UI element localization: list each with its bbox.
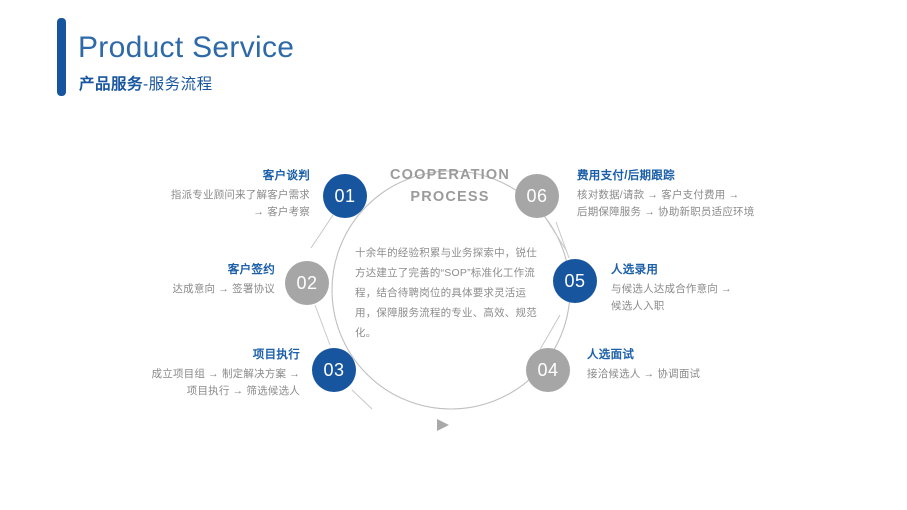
leader-line-03 xyxy=(352,390,372,409)
step-node-02[interactable]: 02 xyxy=(285,261,329,305)
step-desc-02-line1: 达成意向 → 签署协议 xyxy=(100,281,275,298)
step-desc-03-line1: 成立项目组 → 制定解决方案 → xyxy=(100,366,300,383)
step-title-03: 项目执行 xyxy=(100,346,300,362)
step-desc-05-line2: 候选人入职 xyxy=(611,298,811,315)
step-node-04[interactable]: 04 xyxy=(526,348,570,392)
step-label-06: 费用支付/后期跟踪 核对数据/请款 → 客户支付费用 → 后期保障服务 → 协助… xyxy=(577,167,817,221)
step-node-05[interactable]: 05 xyxy=(553,259,597,303)
step-label-04: 人选面试 接洽候选人 → 协调面试 xyxy=(587,346,787,383)
step-label-05: 人选录用 与候选人达成合作意向 → 候选人入职 xyxy=(611,261,811,315)
leader-line-01 xyxy=(311,215,333,248)
center-paragraph: 十余年的经验积累与业务探索中，锐仕方达建立了完善的“SOP”标准化工作流程，结合… xyxy=(355,243,541,343)
step-title-06: 费用支付/后期跟踪 xyxy=(577,167,817,183)
step-desc-06-line2: 后期保障服务 → 协助新职员适应环境 xyxy=(577,204,817,221)
step-desc-05-line1: 与候选人达成合作意向 → xyxy=(611,281,811,298)
step-title-02: 客户签约 xyxy=(100,261,275,277)
step-title-05: 人选录用 xyxy=(611,261,811,277)
step-desc-06-line1: 核对数据/请款 → 客户支付费用 → xyxy=(577,187,817,204)
leader-line-02 xyxy=(315,305,330,345)
step-title-01: 客户谈判 xyxy=(110,167,310,183)
step-node-03[interactable]: 03 xyxy=(312,348,356,392)
step-label-03: 项目执行 成立项目组 → 制定解决方案 → 项目执行 → 筛选候选人 xyxy=(100,346,300,400)
flow-arrow-icon xyxy=(437,419,449,431)
step-desc-01-line1: 指派专业顾问来了解客户需求 xyxy=(110,187,310,204)
step-desc-01-line2: → 客户考察 xyxy=(110,204,310,221)
step-title-04: 人选面试 xyxy=(587,346,787,362)
step-label-01: 客户谈判 指派专业顾问来了解客户需求 → 客户考察 xyxy=(110,167,310,221)
process-diagram: 01 02 03 04 05 06 客户谈判 指派专业顾问来了解客户需求 → 客… xyxy=(0,0,907,510)
step-desc-04-line1: 接洽候选人 → 协调面试 xyxy=(587,366,787,383)
leader-line-05 xyxy=(556,222,569,258)
center-heading: COOPERATION PROCESS xyxy=(360,164,540,208)
leader-line-06 xyxy=(545,217,566,250)
center-heading-line1: COOPERATION xyxy=(360,164,540,186)
step-desc-03-line2: 项目执行 → 筛选候选人 xyxy=(100,383,300,400)
center-heading-line2: PROCESS xyxy=(360,186,540,208)
step-label-02: 客户签约 达成意向 → 签署协议 xyxy=(100,261,275,298)
